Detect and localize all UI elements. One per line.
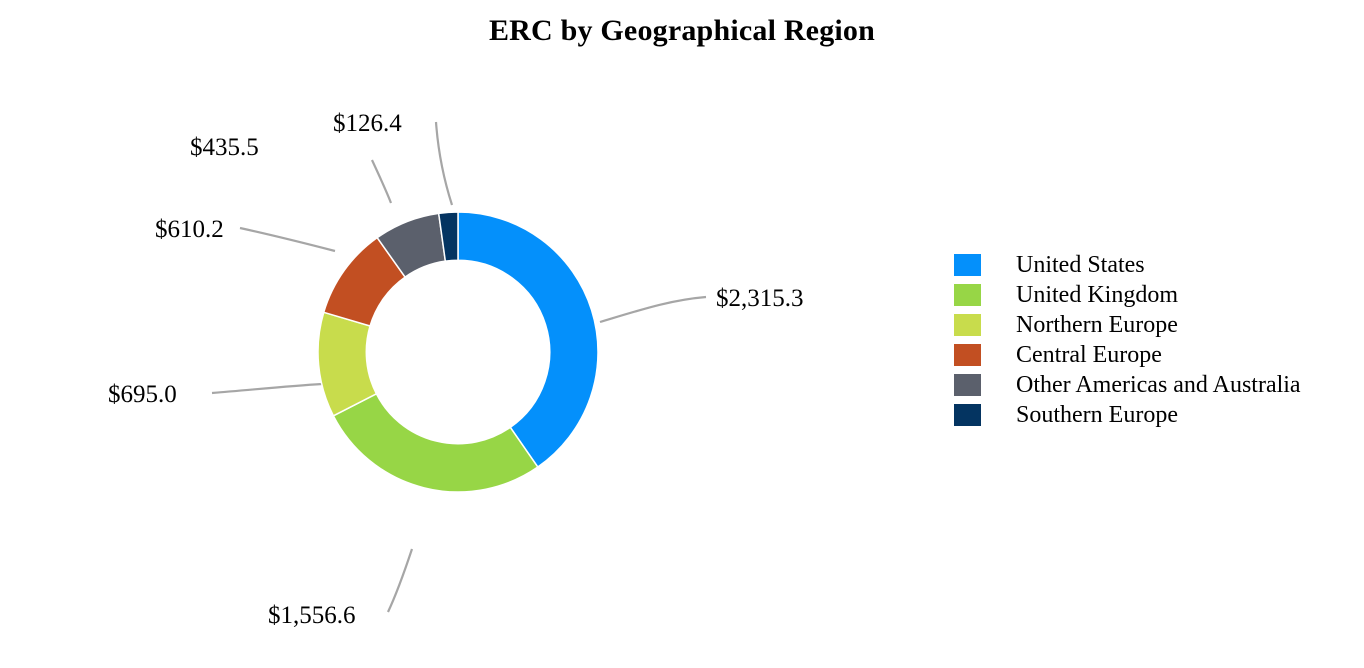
data-label-northern-europe: $695.0 — [108, 381, 177, 409]
data-label-central-europe: $610.2 — [155, 216, 224, 244]
legend-item-label: Central Europe — [1016, 343, 1162, 367]
legend-item-label: Northern Europe — [1016, 313, 1178, 337]
legend-item[interactable]: United Kingdom — [954, 280, 1354, 310]
legend-swatch — [954, 314, 981, 336]
legend-item-label: Other Americas and Australia — [1016, 373, 1301, 397]
donut-chart-area: $2,315.3 $1,556.6 $695.0 $610.2 $435.5 $… — [0, 0, 940, 668]
leader-lines — [212, 122, 706, 612]
leader-line-united-kingdom — [388, 549, 412, 612]
data-label-other-americas-and-australia: $435.5 — [190, 134, 259, 162]
legend-item-label: United Kingdom — [1016, 283, 1178, 307]
legend-item[interactable]: Southern Europe — [954, 400, 1354, 430]
legend-swatch — [954, 374, 981, 396]
legend-item-label: Southern Europe — [1016, 403, 1178, 427]
legend-item[interactable]: Central Europe — [954, 340, 1354, 370]
leader-line-united-states — [600, 297, 706, 322]
legend-item[interactable]: Other Americas and Australia — [954, 370, 1354, 400]
leader-line-southern-europe — [436, 122, 452, 205]
legend-swatch — [954, 254, 981, 276]
chart-legend: United StatesUnited KingdomNorthern Euro… — [954, 250, 1354, 430]
leader-line-central-europe — [240, 228, 335, 251]
data-label-united-kingdom: $1,556.6 — [268, 602, 356, 630]
leader-line-northern-europe — [212, 384, 322, 393]
donut-slices — [318, 212, 598, 492]
donut-chart-svg — [0, 0, 940, 668]
data-label-united-states: $2,315.3 — [716, 285, 804, 313]
donut-slice[interactable] — [458, 212, 598, 467]
legend-swatch — [954, 344, 981, 366]
legend-swatch — [954, 404, 981, 426]
legend-item[interactable]: United States — [954, 250, 1354, 280]
legend-swatch — [954, 284, 981, 306]
donut-slice[interactable] — [333, 394, 537, 492]
data-label-southern-europe: $126.4 — [333, 110, 402, 138]
legend-item[interactable]: Northern Europe — [954, 310, 1354, 340]
leader-line-other-americas-and-australia — [372, 160, 391, 203]
legend-item-label: United States — [1016, 253, 1145, 277]
